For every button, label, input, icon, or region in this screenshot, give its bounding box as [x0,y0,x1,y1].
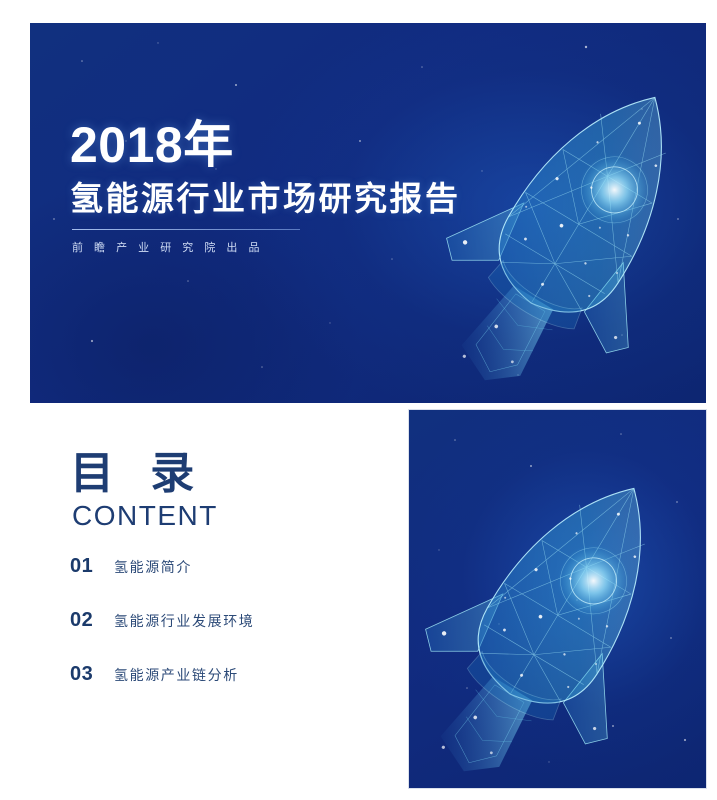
cover-text-block: 2018年 氢能源行业市场研究报告 前 瞻 产 业 研 究 院 出 品 [70,119,470,255]
toc-item-label: 氢能源行业发展环境 [114,611,254,631]
toc-item-label: 氢能源产业链分析 [114,665,239,685]
toc-artwork-panel [409,410,706,788]
toc-heading-en: CONTENT [72,502,218,530]
cover-divider [72,229,300,230]
toc-item-02[interactable]: 02 氢能源行业发展环境 [70,609,390,632]
cover-title: 氢能源行业市场研究报告 [70,181,470,218]
cover-slide: 2018年 氢能源行业市场研究报告 前 瞻 产 业 研 究 院 出 品 [30,23,706,403]
toc-item-01[interactable]: 01 氢能源简介 [70,555,390,578]
toc-item-number: 01 [70,555,114,578]
wireframe-rocket-icon [409,448,703,788]
toc-item-number: 02 [70,609,114,632]
toc-slide: 目 录 CONTENT 01 氢能源简介 02 氢能源行业发展环境 03 氢能源… [30,410,706,788]
cover-year: 2018年 [70,119,470,171]
toc-item-label: 氢能源简介 [114,557,192,577]
toc-starfield [409,410,706,788]
toc-text-panel: 目 录 CONTENT 01 氢能源简介 02 氢能源行业发展环境 03 氢能源… [30,410,409,788]
toc-list: 01 氢能源简介 02 氢能源行业发展环境 03 氢能源产业链分析 [70,555,390,717]
toc-item-03[interactable]: 03 氢能源产业链分析 [70,663,390,686]
toc-heading-cn: 目 录 [70,452,206,496]
toc-item-number: 03 [70,663,114,686]
cover-subtitle: 前 瞻 产 业 研 究 院 出 品 [72,239,470,255]
